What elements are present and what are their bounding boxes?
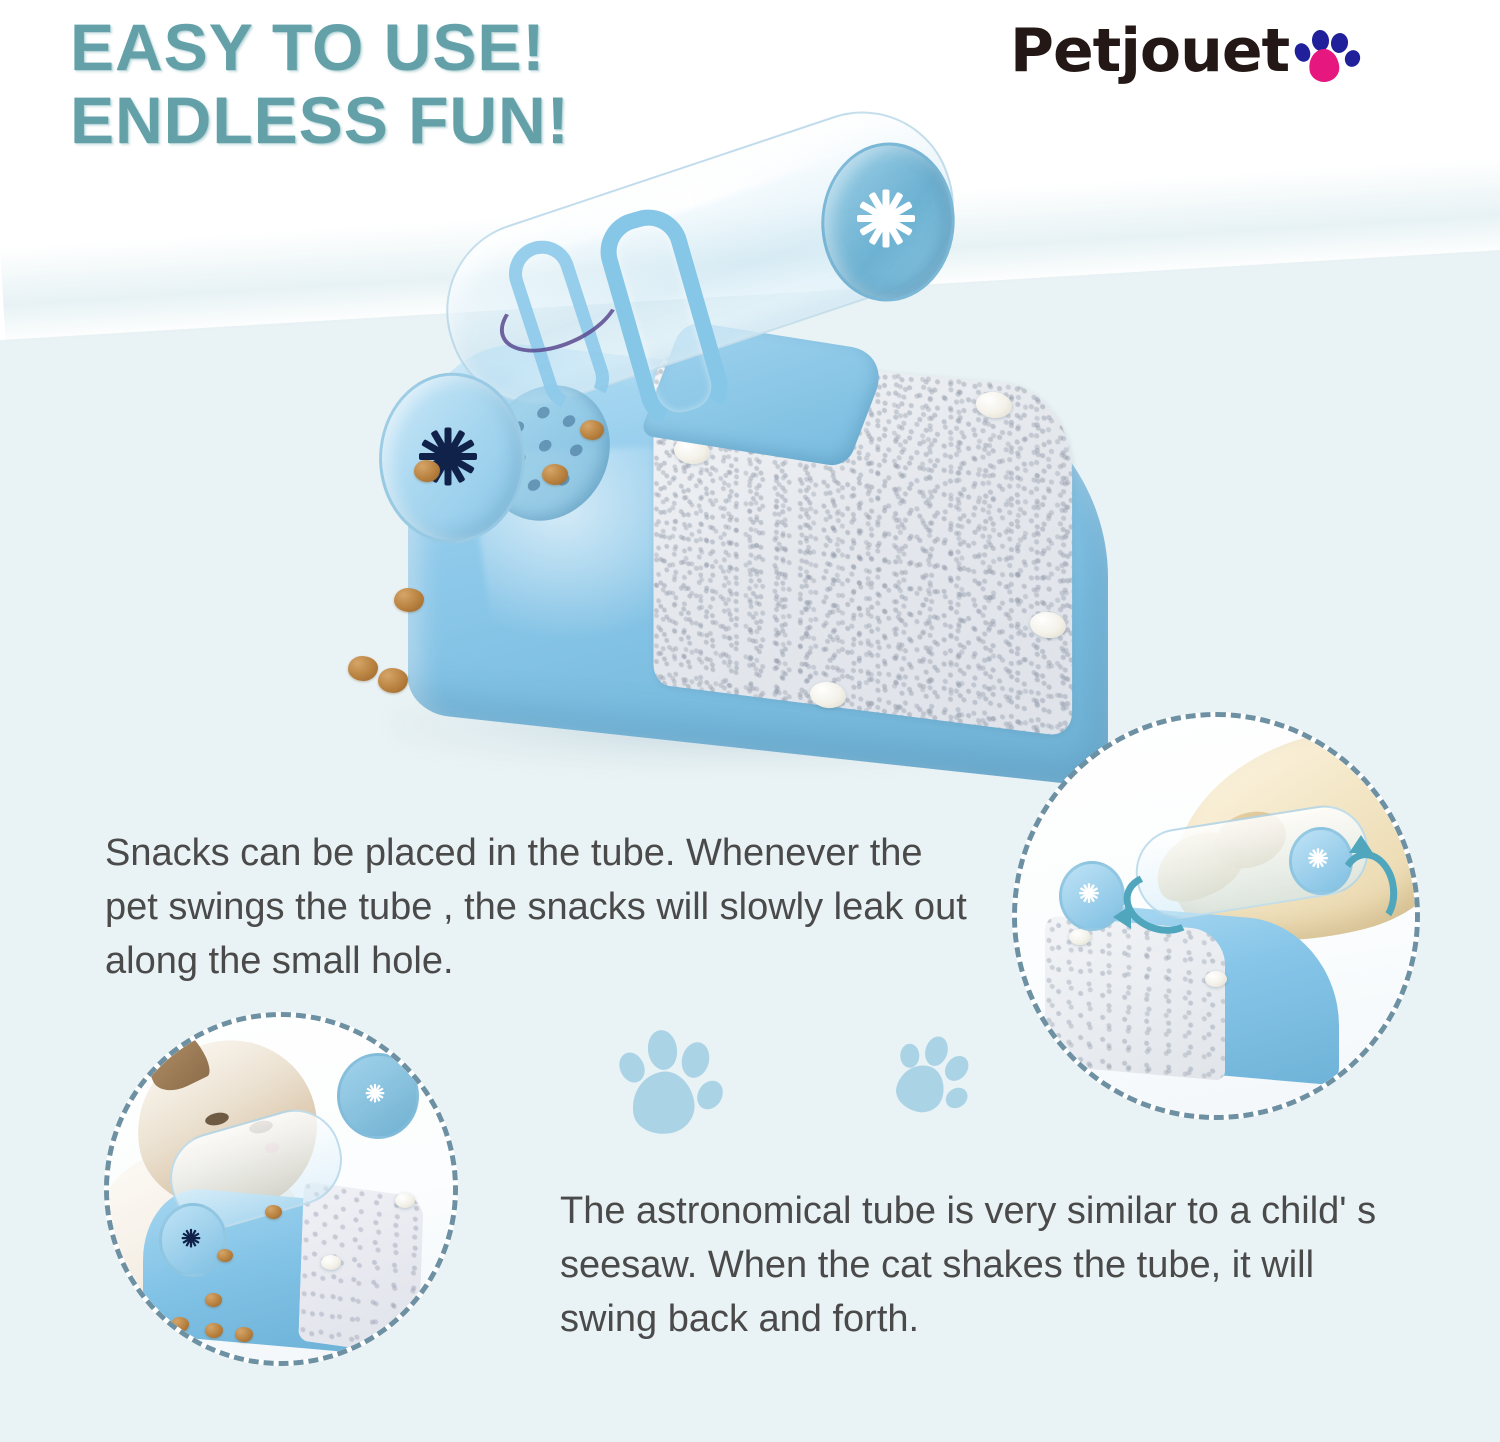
kibble-piece <box>414 460 440 482</box>
pad-stud <box>1205 971 1227 987</box>
kibble-piece <box>171 1317 189 1332</box>
brand-logo: Petjouet <box>1010 16 1357 86</box>
hero-product-photo <box>330 120 1190 820</box>
feature-text-snack-dispensing: Snacks can be placed in the tube. Whenev… <box>105 827 985 989</box>
kibble-piece <box>394 588 424 612</box>
kibble-piece <box>217 1249 233 1262</box>
pad-stud <box>391 1317 411 1332</box>
kibble-piece <box>580 420 604 440</box>
inset-cat-sniffing-photo <box>104 1012 458 1366</box>
pad-stud <box>321 1255 341 1270</box>
brand-wordmark: Petjouet <box>1010 16 1289 86</box>
headline-line-1: EASY TO USE! <box>70 10 545 84</box>
motion-arrow-head-left <box>1113 905 1131 929</box>
kibble-piece <box>205 1323 223 1338</box>
motion-arrow-head-right <box>1349 835 1373 853</box>
inset-cat-paw-photo <box>1012 712 1420 1120</box>
kibble-piece <box>348 656 378 681</box>
kibble-piece <box>235 1327 253 1342</box>
feature-text-seesaw-motion: The astronomical tube is very similar to… <box>560 1185 1420 1347</box>
kibble-piece <box>205 1293 222 1307</box>
kibble-piece <box>265 1205 282 1219</box>
pad-stud <box>395 1193 415 1208</box>
paw-print-icon <box>1295 25 1357 83</box>
pad-stud <box>1069 929 1091 945</box>
kibble-piece <box>378 668 408 693</box>
kibble-piece <box>542 464 568 485</box>
decor-paw-large-icon <box>620 1028 730 1140</box>
